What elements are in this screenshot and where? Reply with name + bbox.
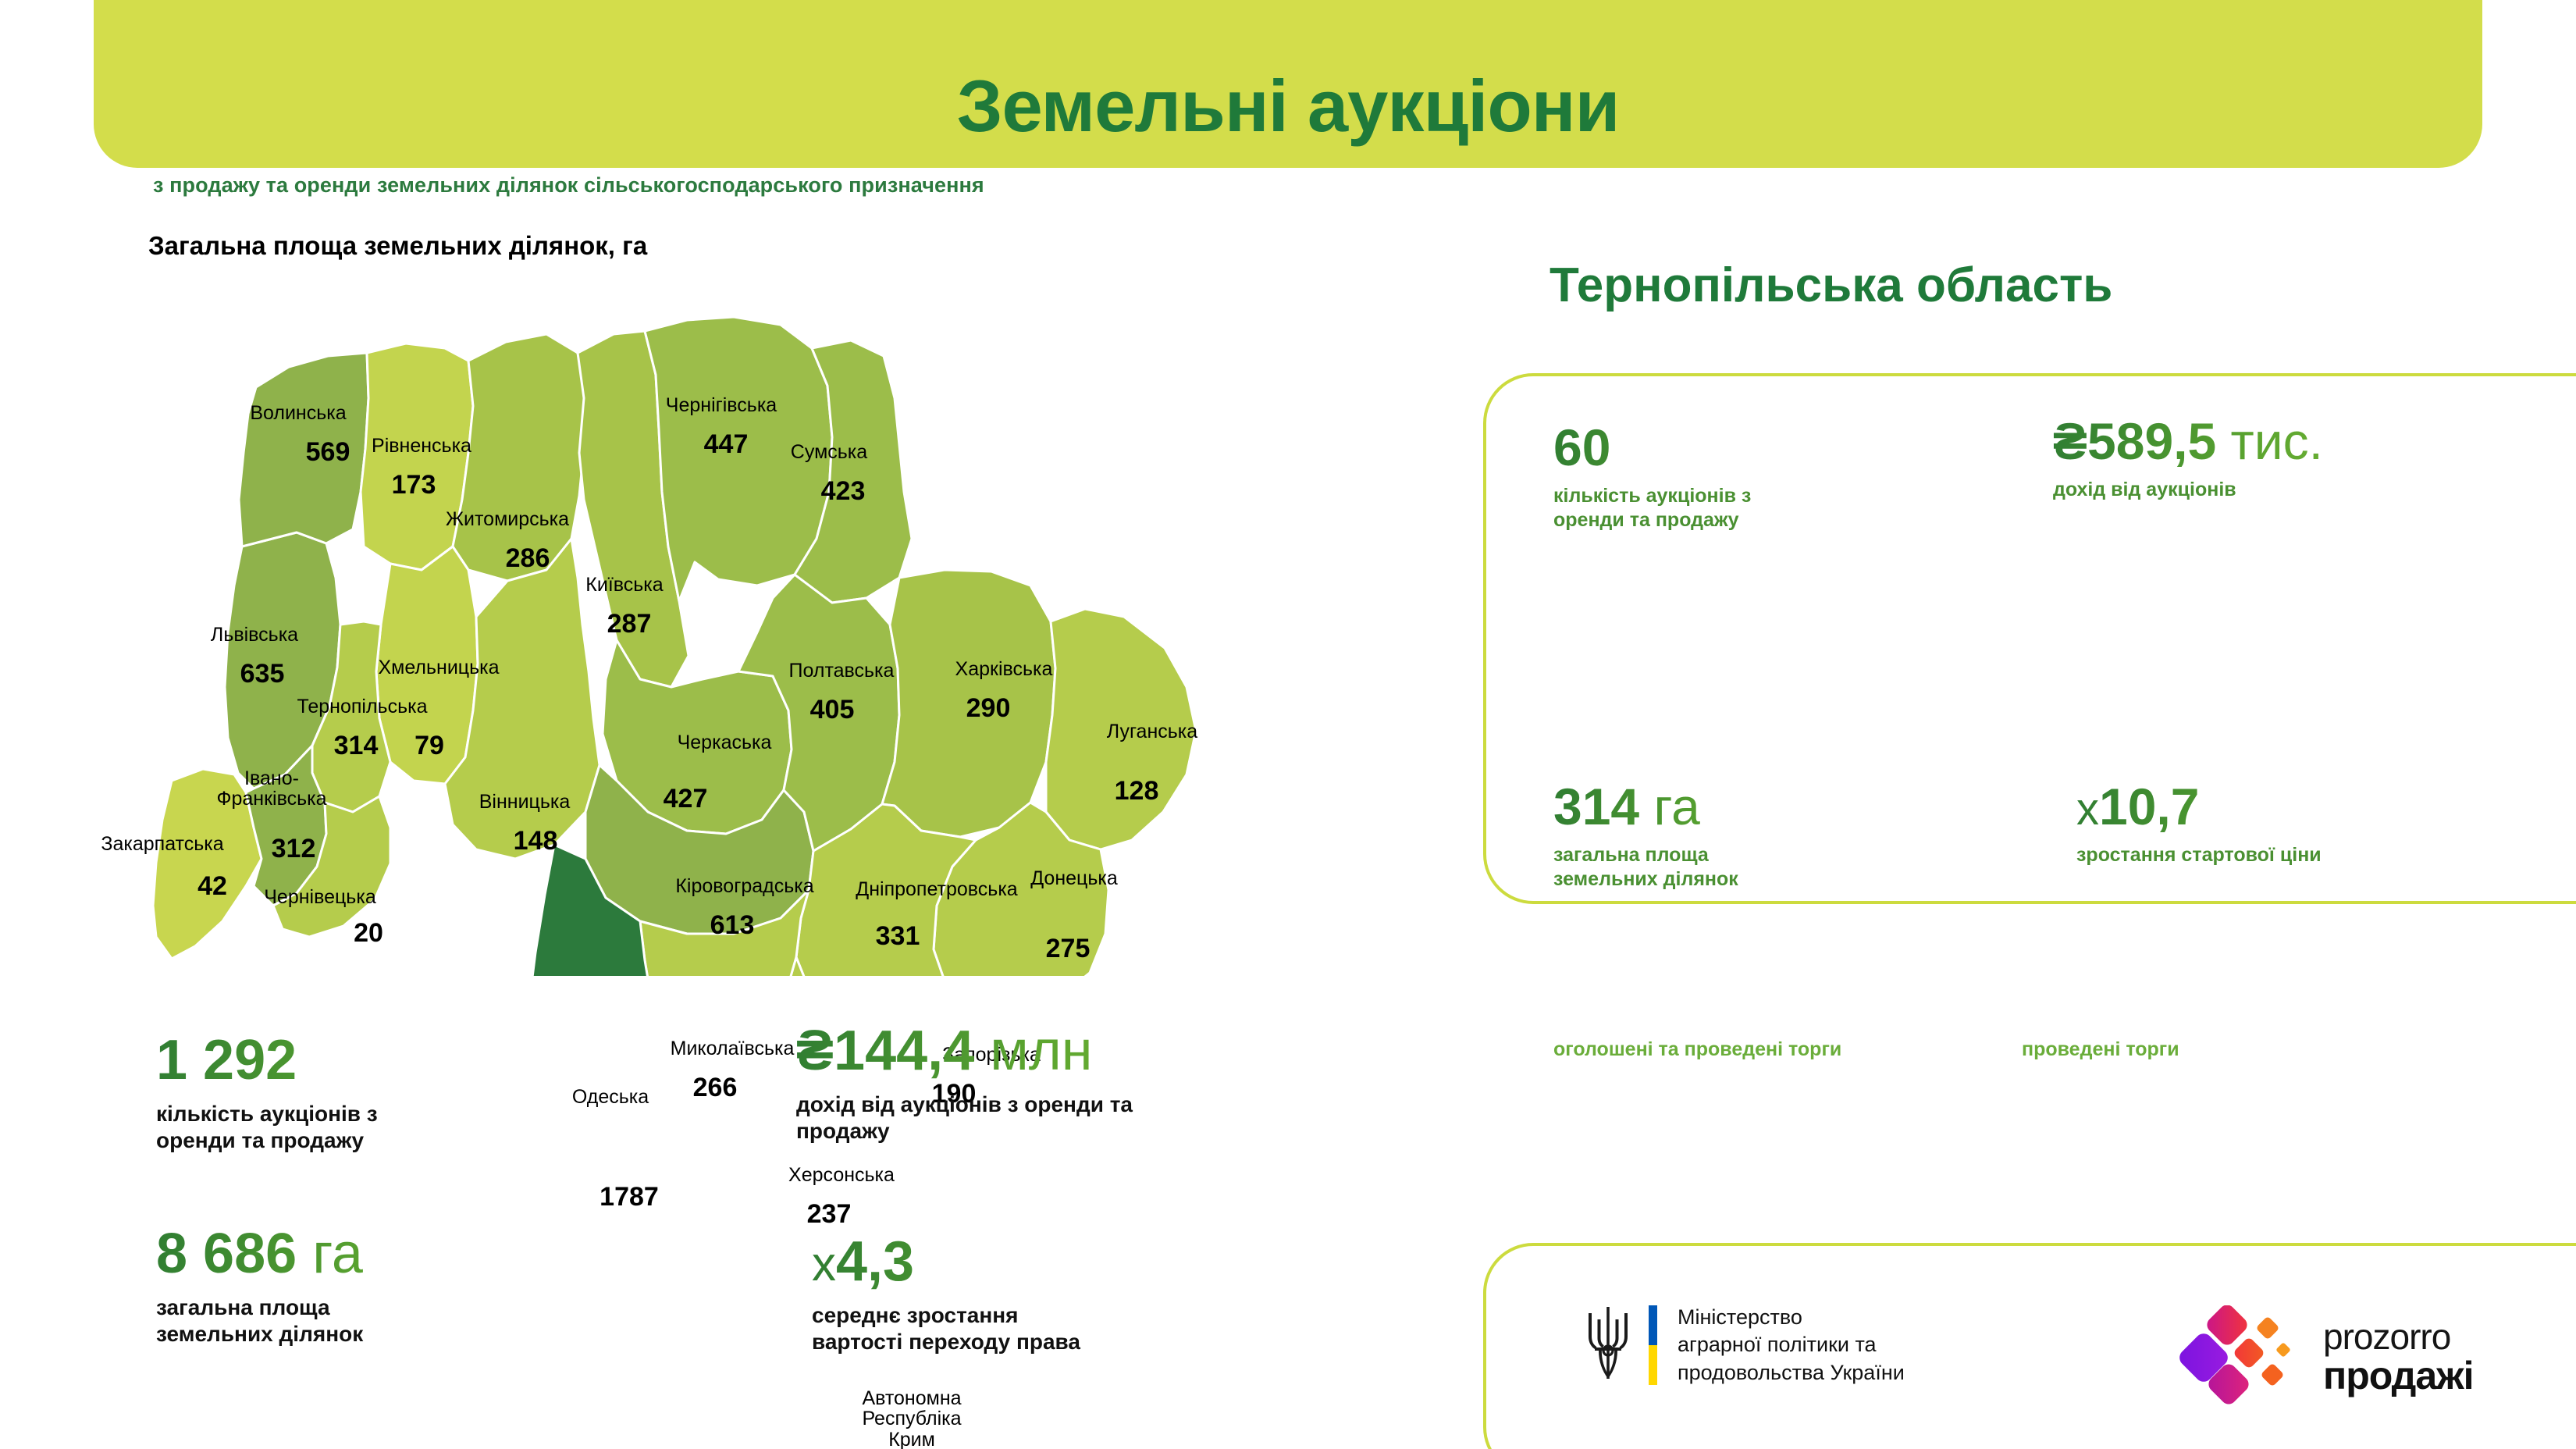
ukraine-trident-icon bbox=[1585, 1302, 1631, 1388]
legend-announced-and-held: оголошені та проведені торги bbox=[1553, 1038, 1841, 1061]
total-price-growth: x4,3 середнє зростання вартості переходу… bbox=[812, 1234, 1452, 1355]
ukraine-choropleth-map: Волинська 569 Рівненська 173 Житомирська… bbox=[78, 312, 1327, 976]
region-area: 314 га загальна площа земельних ділянок bbox=[1553, 781, 1991, 892]
map-label-kharkivska: Харківська bbox=[955, 659, 1053, 679]
map-label-chernivetska: Чернівецька bbox=[264, 887, 375, 907]
total-revenue-value: ₴144,4 млн bbox=[796, 1023, 1436, 1079]
region-area-value: 314 га bbox=[1553, 781, 1991, 832]
region-area-caption: загальна площа земельних ділянок bbox=[1553, 843, 1991, 892]
map-value-donetska: 275 bbox=[1046, 934, 1091, 964]
map-label-kyivska: Київська bbox=[585, 575, 663, 595]
map-label-dnipropetrovska: Дніпропетровська bbox=[856, 879, 1017, 899]
page-title: Земельні аукціони bbox=[0, 64, 2576, 148]
region-price-growth: x10,7 зростання стартової ціни bbox=[2076, 781, 2576, 867]
map-label-volynska: Волинська bbox=[250, 403, 346, 423]
map-value-kirovohradska: 613 bbox=[710, 910, 755, 941]
map-label-poltavska: Полтавська bbox=[789, 660, 895, 681]
map-value-poltavska: 405 bbox=[810, 695, 855, 725]
map-label-zhytomyrska: Житомирська bbox=[446, 509, 569, 529]
total-auctions-count: 1 292 кількість аукціонів з оренди та пр… bbox=[156, 1032, 749, 1154]
ukraine-flag-bar-icon bbox=[1649, 1305, 1657, 1385]
map-label-chernihivska: Чернігівська bbox=[666, 395, 777, 415]
page-subtitle: з продажу та оренди земельних ділянок сі… bbox=[153, 173, 984, 198]
map-label-vinnytska: Вінницька bbox=[479, 792, 571, 812]
map-label-cherkaska: Черкаська bbox=[678, 732, 772, 753]
ministry-name: Міністерство аграрної політики та продов… bbox=[1678, 1304, 1905, 1387]
region-price-growth-caption: зростання стартової ціни bbox=[2076, 843, 2576, 867]
map-value-khmelnytska: 79 bbox=[415, 731, 444, 761]
region-revenue-value: ₴589,5 тис. bbox=[2053, 415, 2568, 467]
map-label-kirovohradska: Кіровоградська bbox=[675, 876, 813, 896]
map-value-chernivetska: 20 bbox=[354, 918, 383, 949]
map-value-vinnytska: 148 bbox=[514, 826, 558, 856]
map-value-ivano-frankivska: 312 bbox=[272, 834, 316, 864]
map-value-rivnenska: 173 bbox=[392, 470, 436, 500]
map-label-lvivska: Львівська bbox=[211, 625, 298, 645]
region-auctions-count: 60 кількість аукціонів з оренди та прода… bbox=[1553, 422, 1991, 533]
map-value-sumska: 423 bbox=[821, 476, 866, 507]
legend-held: проведені торги bbox=[2022, 1038, 2179, 1061]
region-auctions-caption: кількість аукціонів з оренди та продажу bbox=[1553, 484, 1991, 533]
region-auctions-value: 60 bbox=[1553, 422, 1991, 473]
map-label-ivano-frankivska: Івано- Франківська bbox=[216, 768, 326, 810]
prozorro-logo: prozorro продажі bbox=[2178, 1305, 2474, 1408]
map-value-ternopilska: 314 bbox=[334, 731, 379, 761]
total-area-value: 8 686 га bbox=[156, 1226, 749, 1282]
prozorro-text: prozorro bbox=[2323, 1319, 2474, 1355]
total-area-caption: загальна площа земельних ділянок bbox=[156, 1294, 749, 1348]
prozorro-diamonds-icon bbox=[2178, 1305, 2303, 1408]
region-price-growth-value: x10,7 bbox=[2076, 781, 2576, 832]
map-label-zakarpatska: Закарпатська bbox=[101, 834, 223, 854]
total-price-growth-value: x4,3 bbox=[812, 1234, 1452, 1290]
map-value-luhanska: 128 bbox=[1115, 776, 1159, 806]
map-value-odeska: 1787 bbox=[600, 1182, 659, 1212]
total-auctions-value: 1 292 bbox=[156, 1032, 749, 1088]
prozorro-wordmark: prozorro продажі bbox=[2323, 1319, 2474, 1395]
hryvnia-icon: ₴ bbox=[796, 1020, 834, 1082]
map-label-ternopilska: Тернопільська bbox=[297, 696, 427, 717]
map-value-kharkivska: 290 bbox=[966, 693, 1011, 724]
region-revenue-caption: дохід від аукціонів bbox=[2053, 478, 2568, 502]
map-label-khersonska: Херсонська bbox=[788, 1165, 895, 1185]
total-area: 8 686 га загальна площа земельних діляно… bbox=[156, 1226, 749, 1348]
total-revenue-caption: дохід від аукціонів з оренди та продажу bbox=[796, 1091, 1436, 1145]
map-value-khersonska: 237 bbox=[807, 1199, 852, 1230]
map-value-kyivska: 287 bbox=[607, 609, 652, 639]
map-label-donetska: Донецька bbox=[1030, 868, 1118, 888]
map-label-rivnenska: Рівненська bbox=[372, 436, 471, 456]
map-value-zhytomyrska: 286 bbox=[506, 543, 550, 574]
map-label-luhanska: Луганська bbox=[1107, 721, 1197, 742]
map-value-dnipropetrovska: 331 bbox=[876, 921, 920, 952]
total-price-growth-caption: середнє зростання вартості переходу прав… bbox=[812, 1302, 1452, 1355]
map-label-sumska: Сумська bbox=[791, 442, 867, 462]
total-auctions-caption: кількість аукціонів з оренди та продажу bbox=[156, 1101, 749, 1154]
map-value-volynska: 569 bbox=[306, 437, 350, 468]
map-label-crimea: Автономна Республіка Крим bbox=[862, 1388, 961, 1449]
region-revenue: ₴589,5 тис. дохід від аукціонів bbox=[2053, 415, 2568, 502]
region-panel-title: Тернопільська область bbox=[1550, 258, 2112, 313]
map-value-zakarpatska: 42 bbox=[197, 871, 227, 902]
multiplier-icon: x bbox=[2076, 784, 2099, 835]
total-revenue: ₴144,4 млн дохід від аукціонів з оренди … bbox=[796, 1023, 1436, 1145]
map-value-lvivska: 635 bbox=[240, 659, 285, 689]
map-heading: Загальна площа земельних ділянок, га bbox=[148, 231, 647, 261]
ministry-logo: Міністерство аграрної політики та продов… bbox=[1585, 1302, 1905, 1388]
prodazhi-text: продажі bbox=[2323, 1356, 2474, 1395]
map-value-chernihivska: 447 bbox=[704, 429, 749, 460]
map-label-khmelnytska: Хмельницька bbox=[378, 657, 499, 678]
multiplier-icon: x bbox=[812, 1237, 836, 1291]
hryvnia-icon: ₴ bbox=[2053, 412, 2087, 470]
map-value-cherkaska: 427 bbox=[664, 784, 708, 814]
